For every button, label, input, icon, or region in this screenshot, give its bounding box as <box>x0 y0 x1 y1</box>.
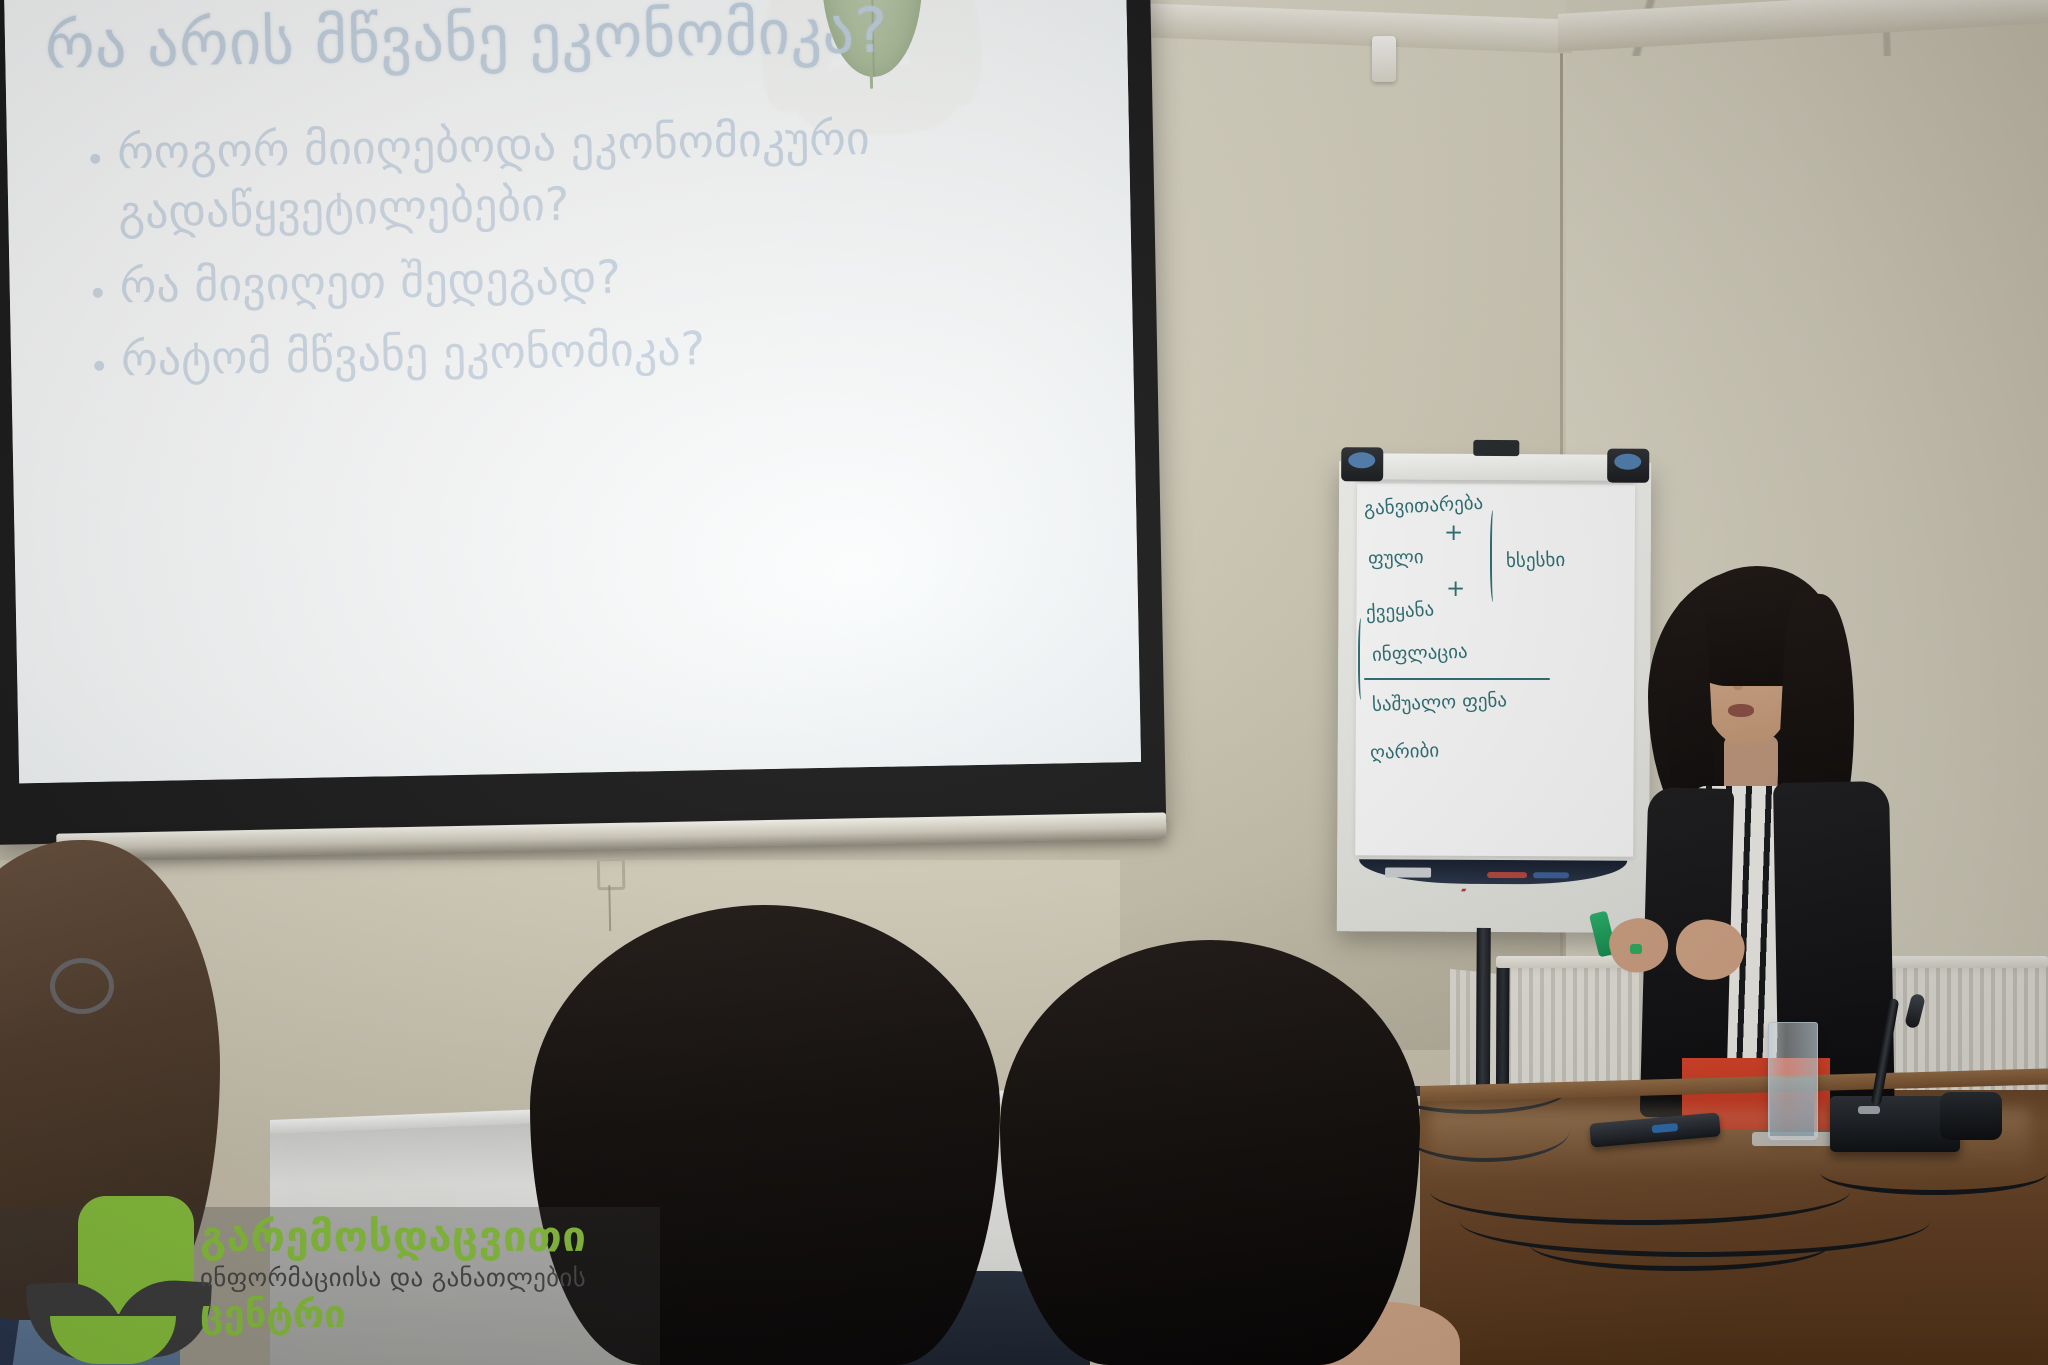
slide-bullet: რა მივიღეთ შედეგად? <box>119 239 1078 317</box>
screen-surface: რა არის მწვანე ეკონომიკა? როგორ მიიღებოდ… <box>3 0 1141 783</box>
projection-screen: რა არის მწვანე ეკონომიკა? როგორ მიიღებოდ… <box>0 0 1187 900</box>
logo-line-3: ცენტრი <box>200 1295 670 1335</box>
flipchart-brand-logo: ▰ <box>1461 886 1505 895</box>
flipchart-clamp-right <box>1607 449 1649 483</box>
flipchart-paper-roll <box>1349 453 1643 481</box>
water-level <box>1770 1078 1814 1136</box>
marker-icon <box>1487 872 1527 878</box>
marker-icon <box>1533 872 1569 878</box>
handwriting-line: განვითარება <box>1364 494 1484 519</box>
handwriting-plus: + <box>1444 522 1463 545</box>
logo-line-1: გარემოსდაცვითი <box>200 1216 670 1258</box>
cable <box>1530 1218 1830 1271</box>
handwriting-line: ფული <box>1368 548 1424 569</box>
logo-text: გარემოსდაცვითი ინფორმაციისა და განათლები… <box>200 1216 670 1335</box>
flipchart-top-nub <box>1473 440 1519 456</box>
logo-line-2: ინფორმაციისა და განათლების <box>200 1264 670 1293</box>
glasses-icon <box>50 958 114 1014</box>
handwriting-underline <box>1364 678 1550 680</box>
audience-member <box>1000 940 1420 1365</box>
handwriting-brace <box>1490 510 1498 602</box>
handwriting-line: ინფლაცია <box>1372 643 1468 665</box>
sensor-icon <box>1372 36 1396 82</box>
screen-hook-icon <box>597 858 626 891</box>
flipchart-clamp-left <box>1341 447 1383 481</box>
presenter-mouth <box>1728 704 1754 717</box>
slide-bullet: რატომ მწვანე ეკონომიკა? <box>121 312 1080 390</box>
screen-frame: რა არის მწვანე ეკონომიკა? როგორ მიიღებოდ… <box>0 0 1166 845</box>
handwriting-brace <box>1358 618 1366 700</box>
handwriting-line: საშუალო ფენა <box>1372 691 1508 715</box>
handwriting-line: ხსესხი <box>1506 551 1566 571</box>
flipchart-handwriting: განვითარება + ფული ხსესხი + ქვეყანა ინფლ… <box>1358 500 1608 800</box>
handwriting-line: ქვეყანა <box>1366 600 1435 623</box>
presenter-ring <box>1630 944 1642 954</box>
eraser-icon <box>1385 867 1431 877</box>
presentation-photo: რა არის მწვანე ეკონომიკა? როგორ მიიღებოდ… <box>0 0 2048 1365</box>
microphone-speaker <box>1940 1092 2002 1140</box>
cable <box>1820 1150 2048 1195</box>
logo-mark <box>28 1196 200 1365</box>
slide-bullet: როგორ მიიღებოდა ეკონომიკური გადაწყვეტილე… <box>117 105 1077 243</box>
slide: რა არის მწვანე ეკონომიკა? როგორ მიიღებოდ… <box>3 0 1141 783</box>
handwriting-plus: + <box>1446 578 1465 601</box>
handwriting-line: ღარიბი <box>1370 742 1440 763</box>
slide-bullet-list: როგორ მიიღებოდა ეკონომიკური გადაწყვეტილე… <box>65 105 1080 406</box>
